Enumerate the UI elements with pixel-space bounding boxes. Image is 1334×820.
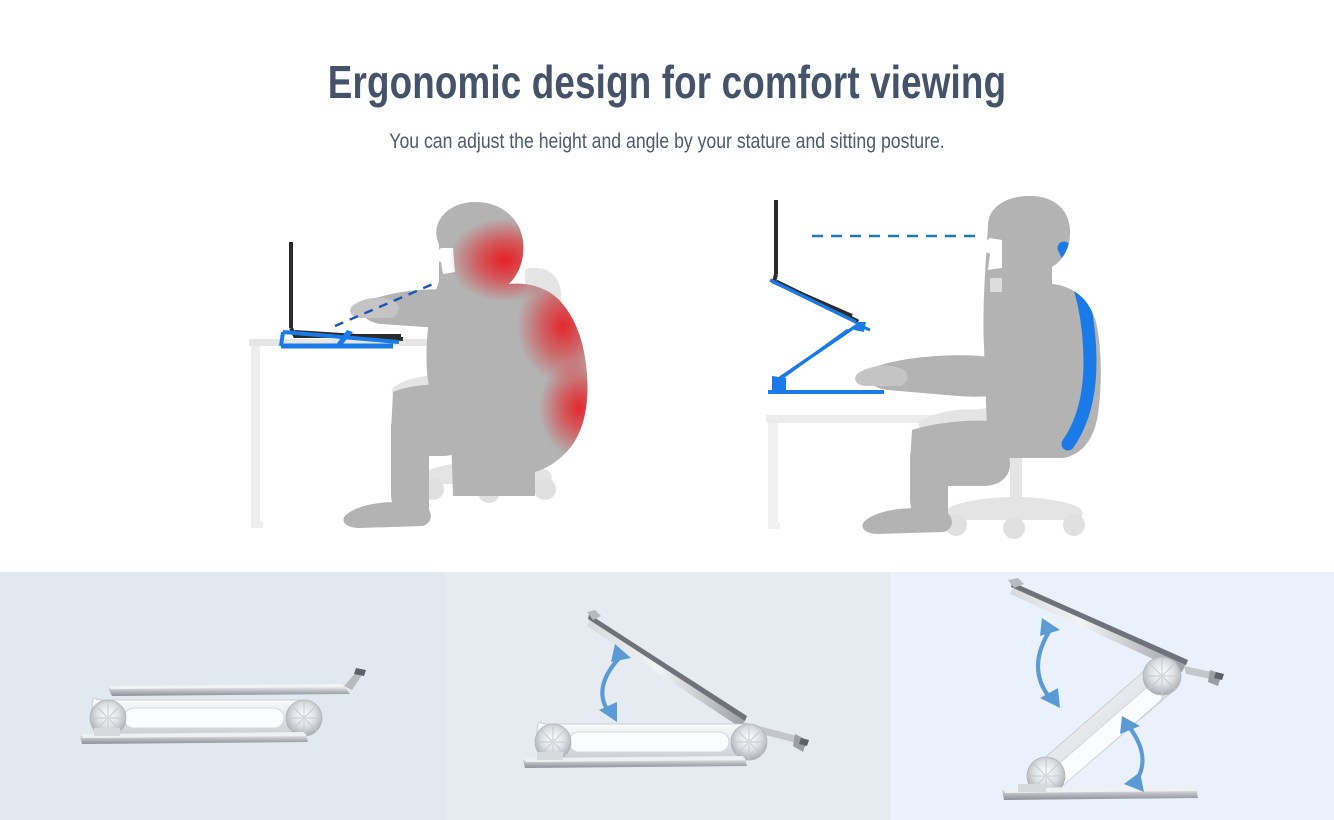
body-cutout: [569, 732, 729, 752]
panel-stand-tilted: [445, 572, 890, 820]
tilt-arrow-lower: [1120, 716, 1144, 792]
product-feature-page: Ergonomic design for comfort viewing You…: [0, 0, 1334, 820]
hinge-knob-front: [731, 724, 767, 760]
scene-bad-posture: [243, 196, 783, 572]
posture-comparison: [0, 196, 1334, 572]
person-good-posture: [855, 196, 1101, 534]
stand-top-plate: [108, 668, 366, 696]
product-angle-panels: [0, 572, 1334, 820]
laptop-low-stand: [281, 242, 403, 346]
tilt-arrow-upper: [1038, 618, 1060, 708]
hinge-knob-upper: [1143, 657, 1181, 695]
tilt-arrow: [599, 644, 631, 722]
person-bad-posture: [343, 202, 619, 528]
stand-base-plate: [1002, 784, 1198, 800]
stand-base-hinge: [772, 376, 786, 390]
body-cutout: [124, 708, 284, 728]
laptop-high-stand: [768, 200, 884, 392]
header: Ergonomic design for comfort viewing You…: [0, 0, 1334, 155]
panel-stand-folded: [0, 572, 445, 820]
stand-lower-arm-back: [776, 330, 848, 382]
page-subtitle: You can adjust the height and angle by y…: [107, 129, 1228, 155]
arm-cutout: [1051, 685, 1162, 785]
page-title: Ergonomic design for comfort viewing: [133, 58, 1200, 107]
scene-good-posture: [752, 196, 1292, 572]
panel-stand-raised: [890, 572, 1334, 820]
stand-upper-arm: [770, 280, 856, 322]
pain-glow-lower-back: [539, 358, 619, 458]
hinge-knob-front: [286, 700, 322, 736]
